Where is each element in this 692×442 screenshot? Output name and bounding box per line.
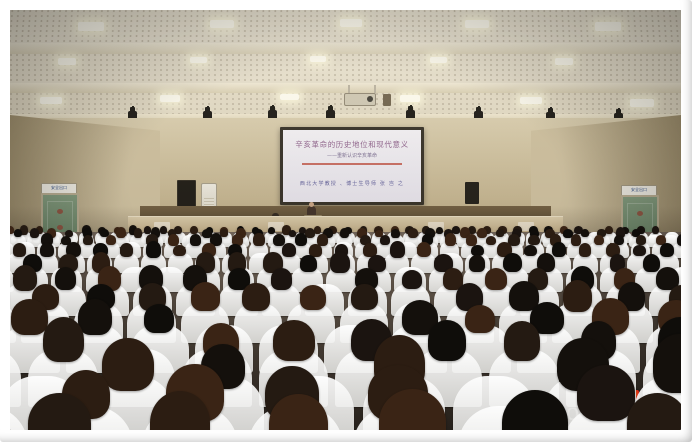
downlight xyxy=(210,20,234,28)
ceiling-equipment-box xyxy=(383,94,391,106)
audience-member xyxy=(579,243,591,256)
projection-screen-frame: 辛亥革命的历史地位和现代意义 ——重新认识辛亥革命 西北大学教授 、博士生导师 … xyxy=(280,127,424,205)
audience-member xyxy=(242,283,269,310)
audience-member xyxy=(190,226,198,234)
slide-presenter: 西北大学教授 、博士生导师 张 岂 之 xyxy=(283,180,421,187)
audience-member xyxy=(146,241,161,257)
audience-member xyxy=(563,280,592,312)
audience-member xyxy=(390,241,405,257)
audience-member xyxy=(300,285,326,310)
audience-member xyxy=(380,235,390,245)
audience-member xyxy=(11,299,48,335)
projector-mount xyxy=(374,85,376,93)
slide-subtitle: ——重新认识辛亥革命 xyxy=(283,152,421,159)
audience-member xyxy=(144,304,175,333)
downlight xyxy=(78,22,104,31)
audience-member xyxy=(436,227,443,234)
door-marking xyxy=(637,211,643,216)
audience-member xyxy=(30,228,39,238)
audience-member xyxy=(577,365,635,422)
audience-member xyxy=(314,226,321,234)
audience-member xyxy=(445,233,456,246)
audience-member xyxy=(168,234,179,246)
audience-member xyxy=(330,252,350,273)
audience-member xyxy=(677,234,681,245)
audience-member xyxy=(391,229,400,238)
audience-member xyxy=(469,255,486,271)
downlight xyxy=(400,95,420,102)
audience-member xyxy=(465,305,495,333)
wall-speaker-left xyxy=(177,180,196,208)
downlight xyxy=(190,57,207,63)
audience-member xyxy=(102,338,154,391)
audience-member xyxy=(40,243,54,257)
audience-member xyxy=(636,235,646,245)
audience-member xyxy=(503,253,522,273)
photo-frame: 安全出口 安全出口 辛亥革命的历史地位和现代意义 ——重新认识辛亥革命 西北大学… xyxy=(0,0,692,442)
audience-member xyxy=(524,245,536,257)
audience-member xyxy=(106,235,117,245)
ceiling-panel-row-2 xyxy=(10,54,681,84)
audience-member xyxy=(253,233,264,245)
audience-member xyxy=(78,299,112,335)
slide-divider xyxy=(302,163,401,165)
downlight xyxy=(555,58,573,65)
audience-member xyxy=(408,228,418,237)
audience-member xyxy=(581,229,589,237)
downlight xyxy=(430,57,447,63)
downlight xyxy=(520,97,542,104)
audience-member xyxy=(571,234,582,246)
audience-member xyxy=(504,321,540,361)
audience-member xyxy=(173,245,185,257)
audience-member xyxy=(120,243,133,256)
audience-member xyxy=(633,245,645,256)
audience-member xyxy=(605,226,614,235)
downlight xyxy=(58,58,76,65)
audience-member xyxy=(191,282,220,311)
audience-member xyxy=(528,235,539,246)
audience-member xyxy=(552,242,566,257)
audience-member xyxy=(116,227,126,238)
door-marking xyxy=(57,209,63,214)
audience-member xyxy=(466,234,477,246)
audience-member xyxy=(83,235,93,245)
audience-member xyxy=(160,226,168,234)
audience-member xyxy=(268,227,275,234)
projector-lens xyxy=(367,96,373,102)
audience-member xyxy=(282,243,296,256)
audience-member xyxy=(134,228,143,237)
audience-member xyxy=(477,228,487,238)
wall-speaker-right xyxy=(465,182,479,204)
slide-title: 辛亥革命的历史地位和现代意义 xyxy=(283,139,421,150)
audience-member xyxy=(594,235,604,246)
audience-member xyxy=(305,228,315,238)
audience-member xyxy=(486,236,496,245)
audience-member xyxy=(55,267,76,290)
projector-mount xyxy=(348,85,350,93)
downlight xyxy=(630,99,654,107)
audience-member xyxy=(428,320,467,361)
downlight xyxy=(465,20,489,28)
audience-member xyxy=(340,228,349,238)
downlight xyxy=(340,19,362,27)
audience-member xyxy=(643,254,660,272)
downlight xyxy=(310,56,326,62)
audience-member xyxy=(13,243,26,256)
audience-member xyxy=(13,265,37,291)
audience-member xyxy=(190,234,201,245)
audience-member xyxy=(273,320,315,361)
audience-member xyxy=(652,226,659,234)
ceiling-panel-row-1 xyxy=(10,10,681,44)
projector-icon xyxy=(344,93,376,106)
audience-member xyxy=(14,229,22,237)
door-marking xyxy=(57,225,63,230)
audience-member xyxy=(660,243,674,257)
projection-screen: 辛亥革命的历史地位和现代意义 ——重新认识辛亥革命 西北大学教授 、博士生导师 … xyxy=(283,130,421,202)
audience-member xyxy=(485,268,508,290)
audience-member xyxy=(351,284,377,310)
ceiling xyxy=(10,10,681,128)
audience-member xyxy=(295,233,307,246)
audience-member xyxy=(417,242,431,257)
downlight xyxy=(160,95,180,102)
audience-member xyxy=(271,268,292,289)
audience-member xyxy=(496,229,504,237)
downlight xyxy=(40,97,62,104)
downlight xyxy=(280,94,299,100)
audience-member xyxy=(402,270,422,289)
downlight xyxy=(595,22,621,31)
audience-member xyxy=(300,255,317,271)
auditorium-photograph: 安全出口 安全出口 辛亥革命的历史地位和现代意义 ——重新认识辛亥革命 西北大学… xyxy=(10,10,681,430)
audience-member xyxy=(43,317,84,362)
